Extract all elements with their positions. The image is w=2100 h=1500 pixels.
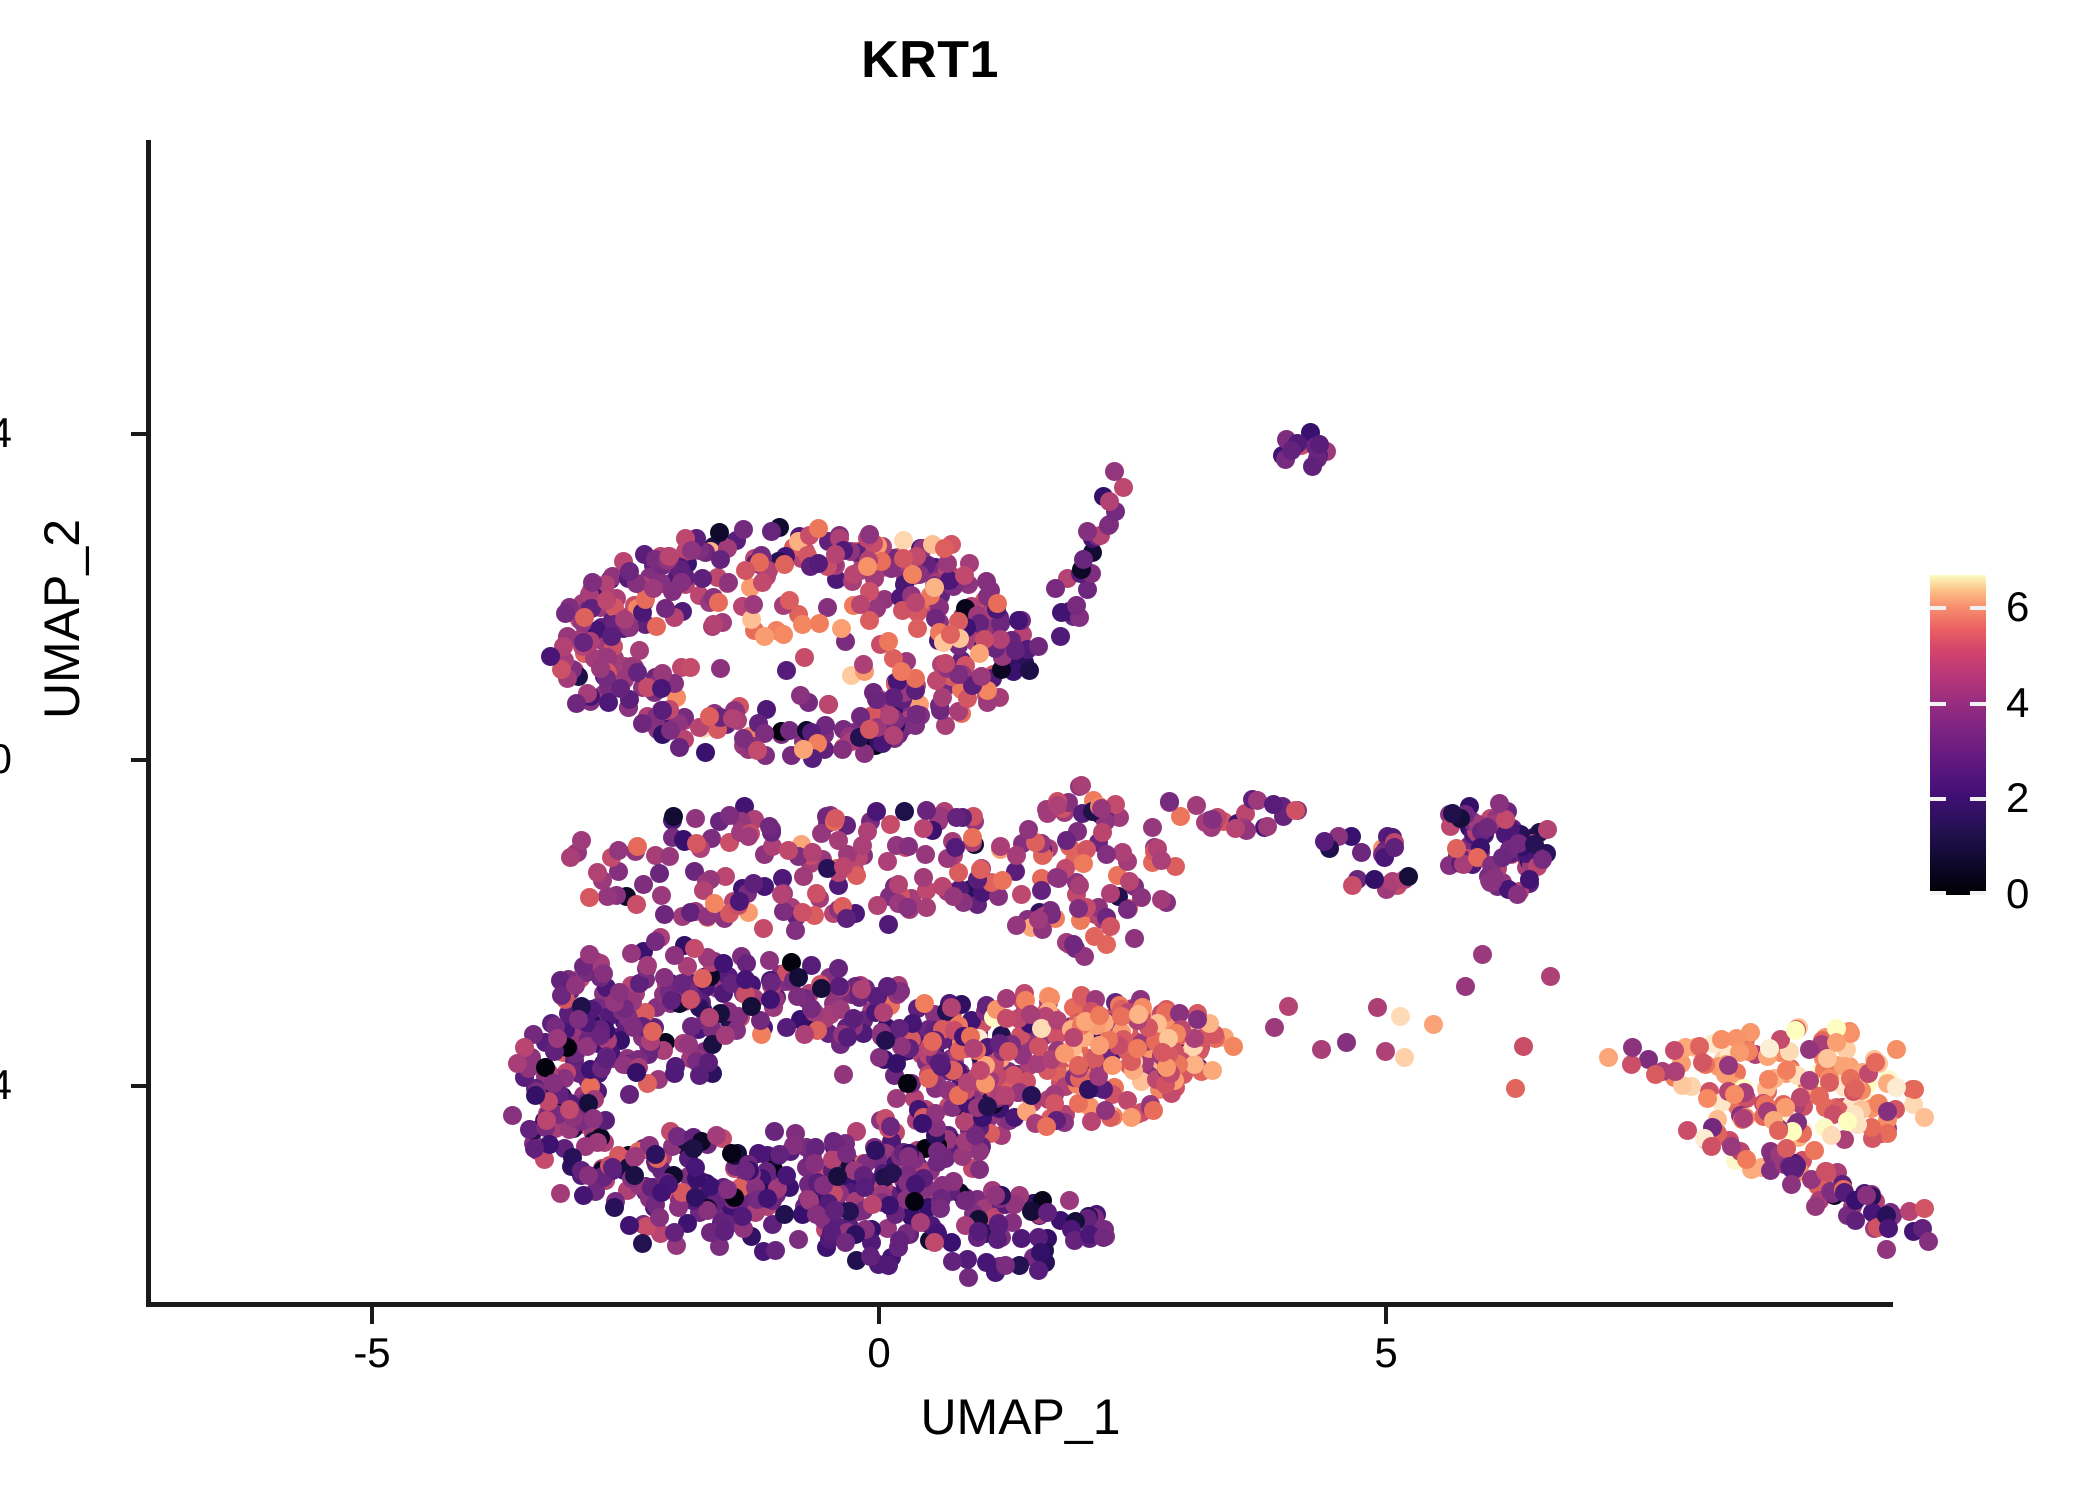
scatter-point <box>1032 881 1051 900</box>
scatter-point <box>844 1009 863 1028</box>
colorbar-tick-label: 0 <box>2006 873 2029 915</box>
scatter-point <box>997 1009 1016 1028</box>
scatter-point <box>890 1231 909 1250</box>
scatter-point <box>970 1142 989 1161</box>
scatter-point <box>1905 1080 1924 1099</box>
scatter-point <box>699 1053 718 1072</box>
scatter-point <box>774 625 793 644</box>
scatter-point <box>1395 1048 1414 1067</box>
scatter-point <box>971 1061 990 1080</box>
scatter-point <box>1203 1061 1222 1080</box>
scatter-point <box>734 520 753 539</box>
y-axis-label: UMAP_2 <box>33 439 91 799</box>
scatter-point <box>1533 850 1552 869</box>
scatter-point <box>931 1199 950 1218</box>
scatter-point <box>1315 832 1334 851</box>
scatter-point <box>1782 1175 1801 1194</box>
scatter-point <box>710 523 729 542</box>
scatter-point <box>580 888 599 907</box>
scatter-point <box>836 1233 855 1252</box>
scatter-point <box>832 619 851 638</box>
scatter-point <box>894 549 913 568</box>
scatter-point <box>1067 596 1086 615</box>
colorbar-tick-mark <box>1930 606 1946 610</box>
scatter-point <box>775 1205 794 1224</box>
scatter-point <box>652 1183 671 1202</box>
scatter-point <box>1125 929 1144 948</box>
scatter-point <box>626 1147 645 1166</box>
scatter-point <box>867 690 886 709</box>
scatter-point <box>1132 888 1151 907</box>
scatter-point <box>1012 885 1031 904</box>
scatter-point <box>765 1122 784 1141</box>
scatter-point <box>858 557 877 576</box>
scatter-point <box>788 987 807 1006</box>
scatter-point <box>1623 1038 1642 1057</box>
scatter-point <box>1020 661 1039 680</box>
scatter-point <box>1007 916 1026 935</box>
scatter-point <box>686 1188 705 1207</box>
colorbar-legend: 6420 <box>1930 575 1986 895</box>
scatter-point <box>1303 457 1322 476</box>
scatter-point <box>1646 1065 1665 1084</box>
colorbar-tick-mark <box>1970 797 1986 801</box>
scatter-point <box>826 545 845 564</box>
scatter-point <box>876 1031 895 1050</box>
scatter-point <box>1029 910 1048 929</box>
scatter-point <box>915 994 934 1013</box>
scatter-point <box>1541 967 1560 986</box>
scatter-point <box>561 848 580 867</box>
scatter-point <box>930 1054 949 1073</box>
scatter-point <box>895 802 914 821</box>
scatter-point <box>1822 1126 1841 1145</box>
scatter-point <box>881 1117 900 1136</box>
colorbar-tick-mark <box>1970 702 1986 706</box>
scatter-point <box>1769 1121 1788 1140</box>
scatter-point <box>1085 927 1104 946</box>
scatter-point <box>925 1233 944 1252</box>
scatter-point <box>551 1184 570 1203</box>
scatter-point <box>887 1054 906 1073</box>
scatter-point <box>1009 611 1028 630</box>
scatter-point <box>868 896 887 915</box>
scatter-point <box>1800 1040 1819 1059</box>
scatter-point <box>662 991 681 1010</box>
scatter-point <box>1101 884 1120 903</box>
scatter-point <box>917 898 936 917</box>
scatter-point <box>733 1207 752 1226</box>
scatter-point <box>650 864 669 883</box>
scatter-point <box>1846 1079 1865 1098</box>
colorbar-tick-label: 6 <box>2006 586 2029 628</box>
scatter-point <box>884 688 903 707</box>
scatter-point <box>1376 1042 1395 1061</box>
scatter-point <box>1493 848 1512 867</box>
scatter-point <box>879 915 898 934</box>
scatter-point <box>503 1106 522 1125</box>
scatter-point <box>1719 1056 1738 1075</box>
scatter-point <box>777 661 796 680</box>
scatter-point <box>603 1158 622 1177</box>
scatter-point <box>1456 977 1475 996</box>
scatter-point <box>828 1167 847 1186</box>
scatter-point <box>693 569 712 588</box>
scatter-point <box>602 627 621 646</box>
scatter-point <box>1846 1211 1865 1230</box>
scatter-point <box>1887 1078 1906 1097</box>
scatter-point <box>996 1256 1015 1275</box>
scatter-point <box>656 599 675 618</box>
y-tick-label: 4 <box>0 412 12 454</box>
scatter-point <box>754 919 773 938</box>
scatter-point <box>1188 1010 1207 1029</box>
scatter-point <box>793 615 812 634</box>
scatter-point <box>588 863 607 882</box>
scatter-point <box>1806 1197 1825 1216</box>
scatter-point <box>775 555 794 574</box>
scatter-point <box>1265 1018 1284 1037</box>
scatter-point <box>867 802 886 821</box>
scatter-point <box>1029 637 1048 656</box>
scatter-point <box>996 1086 1015 1105</box>
scatter-point <box>591 1026 610 1045</box>
scatter-point <box>988 594 1007 613</box>
scatter-point <box>696 743 715 762</box>
scatter-point <box>795 648 814 667</box>
scatter-point <box>993 871 1012 890</box>
scatter-point <box>1473 945 1492 964</box>
scatter-point <box>650 1208 669 1227</box>
scatter-point <box>761 990 780 1009</box>
scatter-point <box>826 809 845 828</box>
x-tick-mark <box>877 1307 881 1324</box>
scatter-point <box>682 541 701 560</box>
scatter-points-layer <box>148 140 1893 1303</box>
scatter-point <box>1866 1053 1885 1072</box>
scatter-point <box>679 1035 698 1054</box>
scatter-point <box>809 519 828 538</box>
scatter-point <box>1029 1261 1048 1280</box>
scatter-point <box>1352 843 1371 862</box>
scatter-point <box>704 615 723 634</box>
scatter-point <box>575 608 594 627</box>
scatter-point <box>866 1141 885 1160</box>
scatter-point <box>684 1139 703 1158</box>
scatter-point <box>715 1222 734 1241</box>
scatter-point <box>1666 1062 1685 1081</box>
scatter-point <box>1887 1040 1906 1059</box>
scatter-point <box>723 709 742 728</box>
scatter-point <box>762 522 781 541</box>
scatter-point <box>946 838 965 857</box>
x-axis-line <box>146 1302 1893 1307</box>
scatter-point <box>1097 845 1116 864</box>
scatter-point <box>628 837 647 856</box>
x-tick-mark <box>370 1307 374 1324</box>
scatter-point <box>597 1049 616 1068</box>
scatter-point <box>1112 1007 1131 1026</box>
scatter-point <box>1153 1043 1172 1062</box>
scatter-point <box>620 1216 639 1235</box>
scatter-point <box>772 885 791 904</box>
scatter-point <box>736 1161 755 1180</box>
scatter-point <box>753 573 772 592</box>
scatter-point <box>583 573 602 592</box>
scatter-point <box>1122 1108 1141 1127</box>
scatter-point <box>766 1241 785 1260</box>
scatter-point <box>584 1109 603 1128</box>
scatter-point <box>633 1234 652 1253</box>
scatter-point <box>634 875 653 894</box>
scatter-point <box>627 895 646 914</box>
scatter-point <box>793 903 812 922</box>
scatter-point <box>770 1145 789 1164</box>
scatter-point <box>860 611 879 630</box>
scatter-point <box>597 591 616 610</box>
scatter-point <box>925 578 944 597</box>
scatter-point <box>943 1252 962 1271</box>
scatter-point <box>605 1198 624 1217</box>
scatter-point <box>1786 1021 1805 1040</box>
scatter-point <box>1343 876 1362 895</box>
scatter-point <box>1702 1137 1721 1156</box>
x-tick-label: 0 <box>819 1332 939 1374</box>
scatter-point <box>829 959 848 978</box>
scatter-point <box>670 738 689 757</box>
y-tick-label: -4 <box>0 1064 12 1106</box>
scatter-point <box>935 539 954 558</box>
scatter-point <box>1070 876 1089 895</box>
scatter-point <box>644 579 663 598</box>
scatter-point <box>1093 823 1112 842</box>
scatter-point <box>860 525 879 544</box>
colorbar-tick-label: 2 <box>2006 777 2029 819</box>
scatter-point <box>1114 478 1133 497</box>
scatter-point <box>1103 1056 1122 1075</box>
scatter-point <box>834 1065 853 1084</box>
scatter-point <box>711 550 730 569</box>
x-tick-label: -5 <box>312 1332 432 1374</box>
scatter-point <box>686 1158 705 1177</box>
x-tick-mark <box>1384 1307 1388 1324</box>
scatter-point <box>1424 1015 1443 1034</box>
scatter-point <box>572 831 591 850</box>
scatter-point <box>660 547 679 566</box>
scatter-point <box>829 831 848 850</box>
scatter-point <box>878 852 897 871</box>
x-tick-label: 5 <box>1326 1332 1446 1374</box>
scatter-point <box>977 1253 996 1272</box>
scatter-point <box>863 1195 882 1214</box>
scatter-point <box>777 1018 796 1037</box>
plot-panel <box>148 140 1893 1303</box>
scatter-point <box>1506 1079 1525 1098</box>
scatter-point <box>1129 1005 1148 1024</box>
scatter-point <box>810 614 829 633</box>
scatter-point <box>1385 838 1404 857</box>
scatter-point <box>579 1166 598 1185</box>
scatter-point <box>722 1144 741 1163</box>
scatter-point <box>838 1028 857 1047</box>
scatter-point <box>744 595 763 614</box>
scatter-point <box>916 845 935 864</box>
scatter-point <box>874 1003 893 1022</box>
scatter-point <box>1007 846 1026 865</box>
scatter-point <box>1734 1109 1753 1128</box>
scatter-point <box>755 627 774 646</box>
scatter-point <box>560 1100 579 1119</box>
scatter-point <box>789 1230 808 1249</box>
scatter-point <box>906 1175 925 1194</box>
scatter-point <box>812 979 831 998</box>
scatter-point <box>805 1154 824 1173</box>
scatter-point <box>643 1022 662 1041</box>
scatter-point <box>1006 641 1025 660</box>
scatter-point <box>833 740 852 759</box>
scatter-point <box>652 886 671 905</box>
scatter-point <box>638 956 657 975</box>
scatter-point <box>660 847 679 866</box>
scatter-point <box>1693 1053 1712 1072</box>
scatter-point <box>1915 1199 1934 1218</box>
scatter-point <box>1094 1228 1113 1247</box>
scatter-point <box>665 1223 684 1242</box>
scatter-point <box>633 714 652 733</box>
scatter-point <box>620 1085 639 1104</box>
scatter-point <box>999 1042 1018 1061</box>
scatter-point <box>774 902 793 921</box>
scatter-point <box>997 989 1016 1008</box>
scatter-point <box>1074 854 1093 873</box>
scatter-point <box>1203 810 1222 829</box>
scatter-point <box>1365 870 1384 889</box>
scatter-point <box>837 1144 856 1163</box>
scatter-point <box>907 705 926 724</box>
scatter-point <box>855 1178 874 1197</box>
scatter-point <box>795 1025 814 1044</box>
scatter-point <box>1399 867 1418 886</box>
scatter-point <box>739 827 758 846</box>
scatter-point <box>655 905 674 924</box>
scatter-point <box>963 828 982 847</box>
scatter-point <box>911 1213 930 1232</box>
scatter-point <box>880 1196 899 1215</box>
scatter-point <box>709 593 728 612</box>
scatter-point <box>567 694 586 713</box>
scatter-point <box>594 964 613 983</box>
scatter-point <box>1712 1030 1731 1049</box>
scatter-point <box>1817 1162 1836 1181</box>
scatter-point <box>1090 1006 1109 1025</box>
scatter-point <box>707 1126 726 1145</box>
scatter-point <box>1224 1037 1243 1056</box>
scatter-point <box>786 921 805 940</box>
scatter-point <box>898 898 917 917</box>
scatter-point <box>1078 522 1097 541</box>
scatter-point <box>681 658 700 677</box>
scatter-point <box>1226 819 1245 838</box>
scatter-point <box>1337 1033 1356 1052</box>
scatter-point <box>574 1186 593 1205</box>
page-title: KRT1 <box>0 30 1860 90</box>
scatter-point <box>665 1064 684 1083</box>
scatter-point <box>851 595 870 614</box>
scatter-point <box>1759 1070 1778 1089</box>
scatter-point <box>861 1247 880 1266</box>
scatter-point <box>794 740 813 759</box>
scatter-point <box>989 1216 1008 1235</box>
scatter-point <box>591 659 610 678</box>
colorbar-tick-label: 4 <box>2006 682 2029 724</box>
scatter-point <box>609 841 628 860</box>
scatter-point <box>956 1191 975 1210</box>
scatter-point <box>1915 1108 1934 1127</box>
scatter-point <box>1514 1037 1533 1056</box>
scatter-point <box>1282 441 1301 460</box>
scatter-point <box>1143 818 1162 837</box>
scatter-point <box>1048 796 1067 815</box>
scatter-point <box>1447 839 1466 858</box>
scatter-point <box>681 903 700 922</box>
scatter-point <box>1051 627 1070 646</box>
scatter-point <box>852 980 871 999</box>
scatter-point <box>941 625 960 644</box>
colorbar-tick-mark <box>1930 702 1946 706</box>
scatter-point <box>1031 1243 1050 1262</box>
scatter-point <box>1060 1191 1079 1210</box>
scatter-point <box>611 679 630 698</box>
x-axis-label: UMAP_1 <box>148 1388 1893 1446</box>
scatter-point <box>970 644 989 663</box>
scatter-point <box>1443 804 1462 823</box>
scatter-point <box>1622 1055 1641 1074</box>
y-tick-mark <box>131 1084 148 1088</box>
scatter-point <box>736 561 755 580</box>
scatter-point <box>1101 917 1120 936</box>
scatter-point <box>661 721 680 740</box>
scatter-point <box>1279 997 1298 1016</box>
colorbar-gradient <box>1930 575 1986 895</box>
scatter-point <box>1100 492 1119 511</box>
scatter-point <box>1037 1117 1056 1136</box>
scatter-point <box>705 894 724 913</box>
scatter-point <box>610 983 629 1002</box>
scatter-point <box>1698 1089 1717 1108</box>
scatter-point <box>1187 796 1206 815</box>
scatter-point <box>716 1026 735 1045</box>
scatter-point <box>837 909 856 928</box>
scatter-point <box>898 1074 917 1093</box>
scatter-point <box>892 662 911 681</box>
scatter-point <box>1152 890 1171 909</box>
scatter-point <box>719 573 738 592</box>
scatter-point <box>777 1166 796 1185</box>
scatter-point <box>933 688 952 707</box>
scatter-point <box>1877 1240 1896 1259</box>
scatter-point <box>913 1114 932 1133</box>
scatter-point <box>917 801 936 820</box>
scatter-point <box>687 834 706 853</box>
scatter-point <box>525 1139 544 1158</box>
y-tick-label: 0 <box>0 738 12 780</box>
colorbar-tick-mark <box>1930 797 1946 801</box>
scatter-point <box>537 1111 556 1130</box>
scatter-point <box>760 817 779 836</box>
scatter-point <box>620 562 639 581</box>
colorbar-tick-mark <box>1970 891 1986 895</box>
y-tick-mark <box>131 432 148 436</box>
